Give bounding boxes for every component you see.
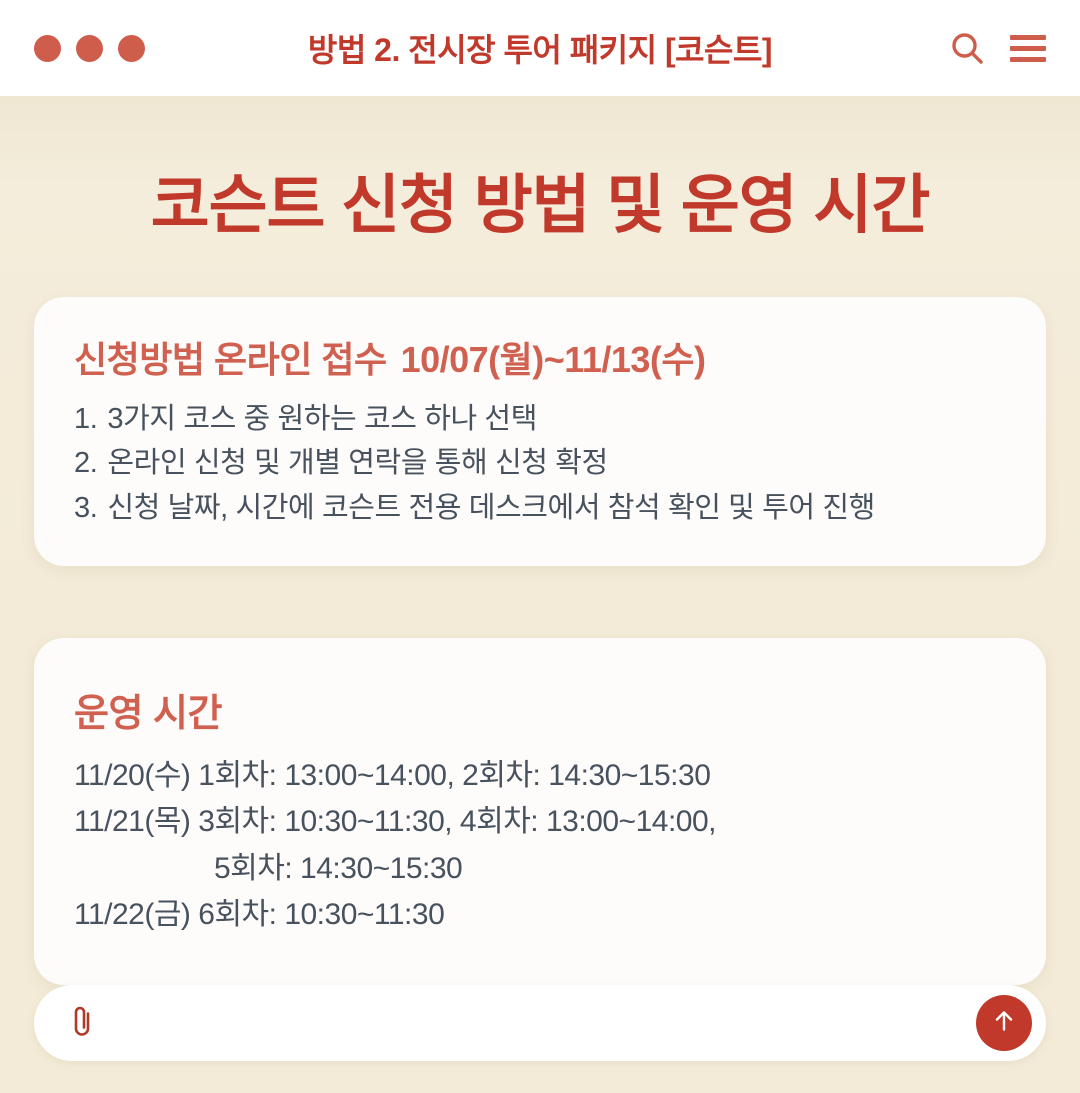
arrow-up-icon <box>989 1006 1019 1039</box>
message-input[interactable] <box>104 1009 976 1037</box>
search-icon[interactable] <box>950 31 984 65</box>
step-text: 3가지 코스 중 원하는 코스 하나 선택 <box>107 397 1006 441</box>
menu-bar-3 <box>1010 57 1046 62</box>
list-item: 11/22(금) 6회차: 10:30~11:30 <box>74 892 1006 939</box>
application-period-range: 10/07(월)~11/13(수) <box>401 339 706 380</box>
step-number: 3. <box>74 486 97 530</box>
operating-hours-card: 운영 시간 11/20(수) 1회차: 13:00~14:00, 2회차: 14… <box>34 638 1046 985</box>
list-item: 5회차: 14:30~15:30 <box>74 846 1006 893</box>
paperclip-icon <box>68 1004 96 1041</box>
header-actions <box>950 31 1046 65</box>
list-item: 1. 3가지 코스 중 원하는 코스 하나 선택 <box>74 397 1006 441</box>
list-item: 2. 온라인 신청 및 개별 연락을 통해 신청 확정 <box>74 441 1006 485</box>
window-dot-close[interactable] <box>34 35 61 62</box>
attach-button[interactable] <box>60 1001 104 1045</box>
hamburger-menu-icon[interactable] <box>1010 35 1046 62</box>
step-text: 온라인 신청 및 개별 연락을 통해 신청 확정 <box>107 441 1006 485</box>
application-method-heading: 신청방법 온라인 접수10/07(월)~11/13(수) <box>74 331 1006 383</box>
app-header: 방법 2. 전시장 투어 패키지 [코슨트] <box>0 0 1080 96</box>
step-text: 신청 날짜, 시간에 코슨트 전용 데스크에서 참석 확인 및 투어 진행 <box>107 486 1006 530</box>
window-controls <box>34 35 145 62</box>
list-item: 11/21(목) 3회차: 10:30~11:30, 4회차: 13:00~14… <box>74 799 1006 846</box>
message-composer <box>34 985 1046 1061</box>
menu-bar-2 <box>1010 46 1046 51</box>
application-method-card: 신청방법 온라인 접수10/07(월)~11/13(수) 1. 3가지 코스 중… <box>34 297 1046 565</box>
content-area: 코슨트 신청 방법 및 운영 시간 신청방법 온라인 접수10/07(월)~11… <box>0 96 1080 1093</box>
application-method-label: 신청방법 온라인 접수 <box>74 339 387 380</box>
app-screen: 방법 2. 전시장 투어 패키지 [코슨트] 코슨트 신청 방법 및 운영 시간… <box>0 0 1080 1080</box>
window-dot-minimize[interactable] <box>76 35 103 62</box>
composer-wrapper <box>34 985 1046 1093</box>
list-item: 3. 신청 날짜, 시간에 코슨트 전용 데스크에서 참석 확인 및 투어 진행 <box>74 486 1006 530</box>
send-button[interactable] <box>976 995 1032 1051</box>
header-title: 방법 2. 전시장 투어 패키지 [코슨트] <box>0 25 1080 71</box>
application-steps-list: 1. 3가지 코스 중 원하는 코스 하나 선택 2. 온라인 신청 및 개별 … <box>74 397 1006 529</box>
step-number: 1. <box>74 397 97 441</box>
step-number: 2. <box>74 441 97 485</box>
menu-bar-1 <box>1010 35 1046 40</box>
operating-hours-heading: 운영 시간 <box>74 682 1006 737</box>
list-item: 11/20(수) 1회차: 13:00~14:00, 2회차: 14:30~15… <box>74 753 1006 800</box>
operating-hours-list: 11/20(수) 1회차: 13:00~14:00, 2회차: 14:30~15… <box>74 753 1006 939</box>
window-dot-maximize[interactable] <box>118 35 145 62</box>
page-title: 코슨트 신청 방법 및 운영 시간 <box>34 170 1046 240</box>
